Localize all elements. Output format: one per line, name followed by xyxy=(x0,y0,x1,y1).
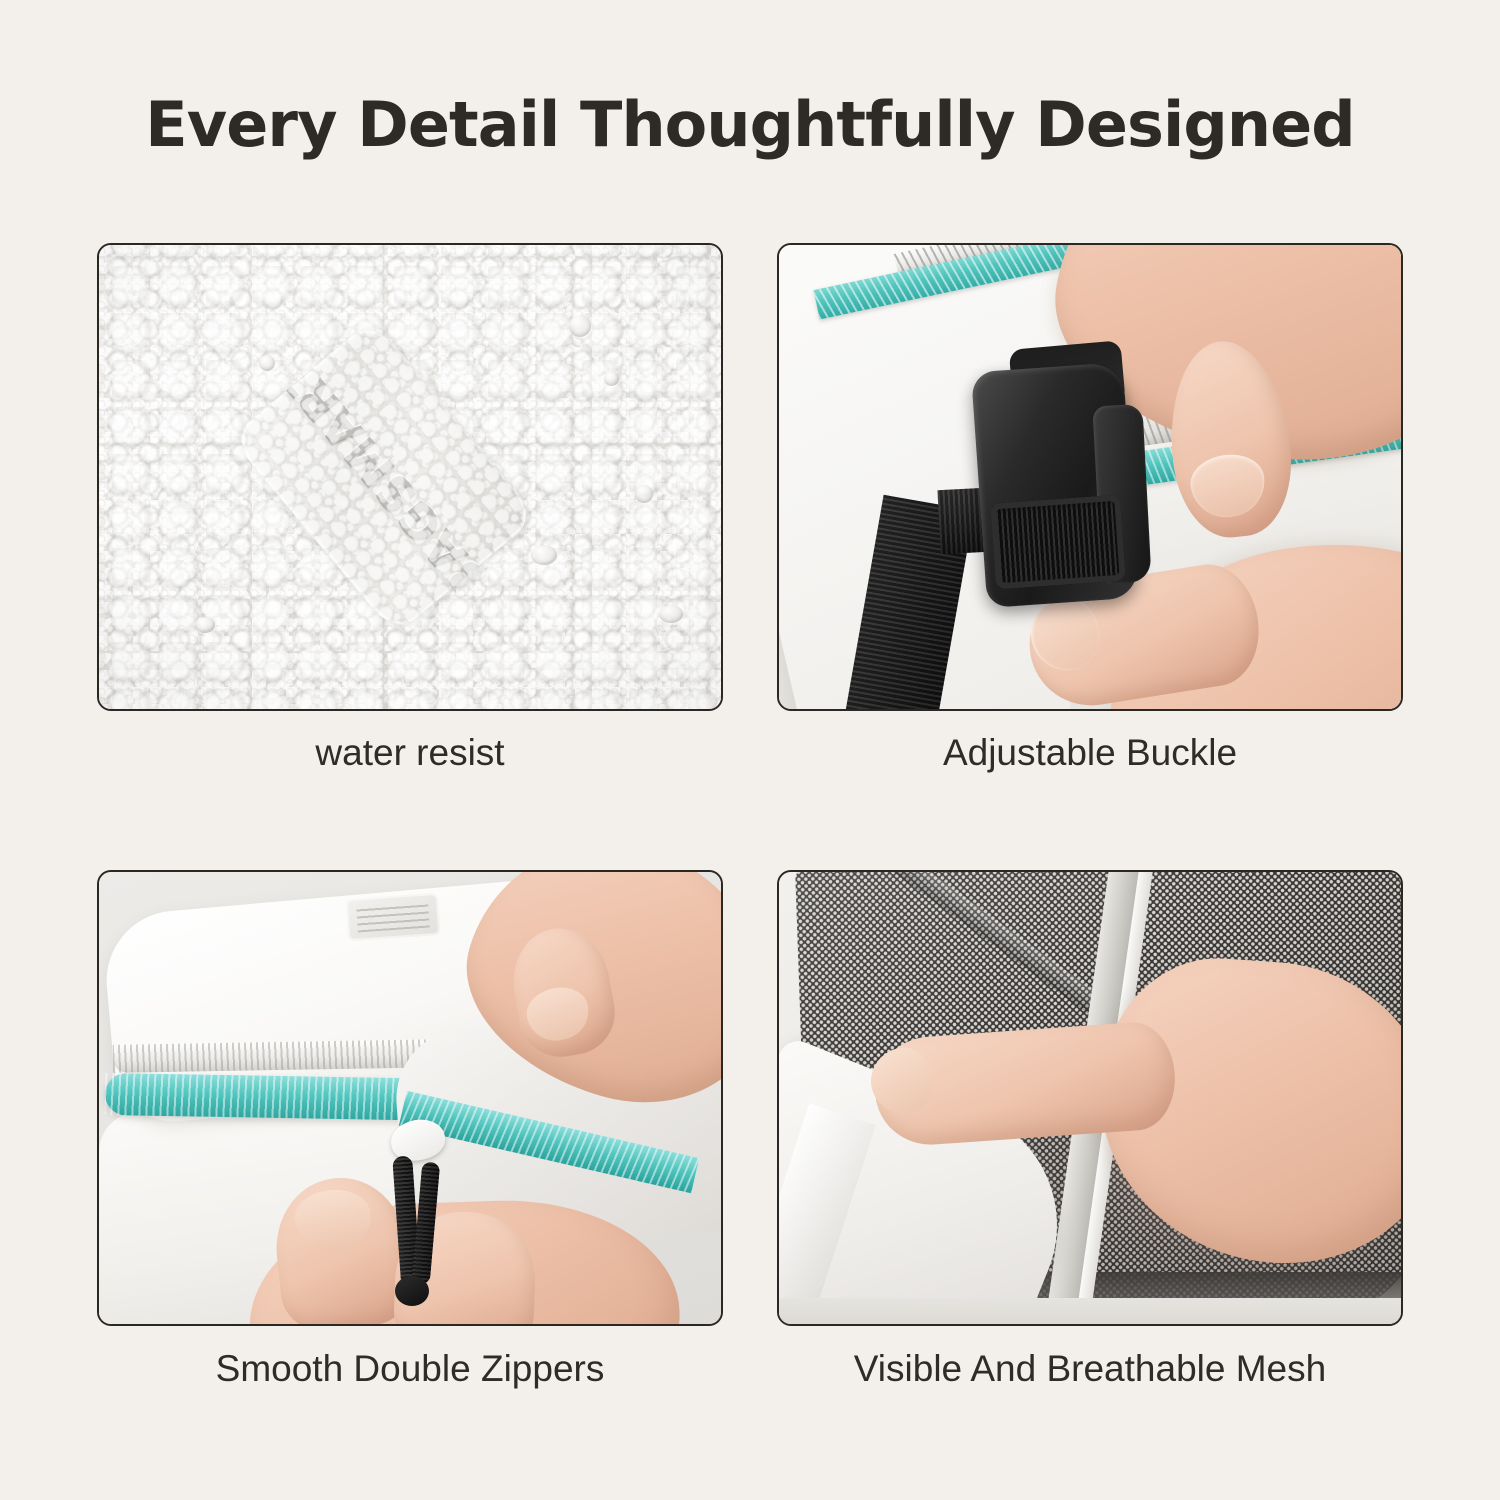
feature-caption-water-resist: water resist xyxy=(97,732,723,774)
feature-card-visible-breathable-mesh: Visible And Breathable Mesh xyxy=(777,870,1403,1326)
bag-bottom-edge xyxy=(779,1298,1403,1326)
feature-caption-adjustable-buckle: Adjustable Buckle xyxy=(777,732,1403,774)
feature-photo-smooth-double-zippers xyxy=(97,870,723,1326)
feature-card-adjustable-buckle: BAG Adjustable Buckle xyxy=(777,243,1403,711)
feature-grid: BAGSMART water resist BAG xyxy=(97,243,1403,1333)
feature-photo-visible-breathable-mesh xyxy=(777,870,1403,1326)
zipper-cord-knot xyxy=(395,1276,429,1306)
infographic-page: Every Detail Thoughtfully Designed BAGSM… xyxy=(0,0,1500,1500)
feature-photo-water-resist: BAGSMART xyxy=(97,243,723,711)
feature-caption-smooth-double-zippers: Smooth Double Zippers xyxy=(97,1348,723,1390)
page-title: Every Detail Thoughtfully Designed xyxy=(0,88,1500,161)
feature-caption-visible-breathable-mesh: Visible And Breathable Mesh xyxy=(777,1348,1403,1390)
feature-card-smooth-double-zippers: Smooth Double Zippers xyxy=(97,870,723,1326)
bag-label-tag xyxy=(346,893,441,941)
buckle-strap-slot xyxy=(990,495,1126,590)
feature-photo-adjustable-buckle: BAG xyxy=(777,243,1403,711)
feature-card-water-resist: BAGSMART water resist xyxy=(97,243,723,711)
photo-vignette xyxy=(99,245,721,709)
